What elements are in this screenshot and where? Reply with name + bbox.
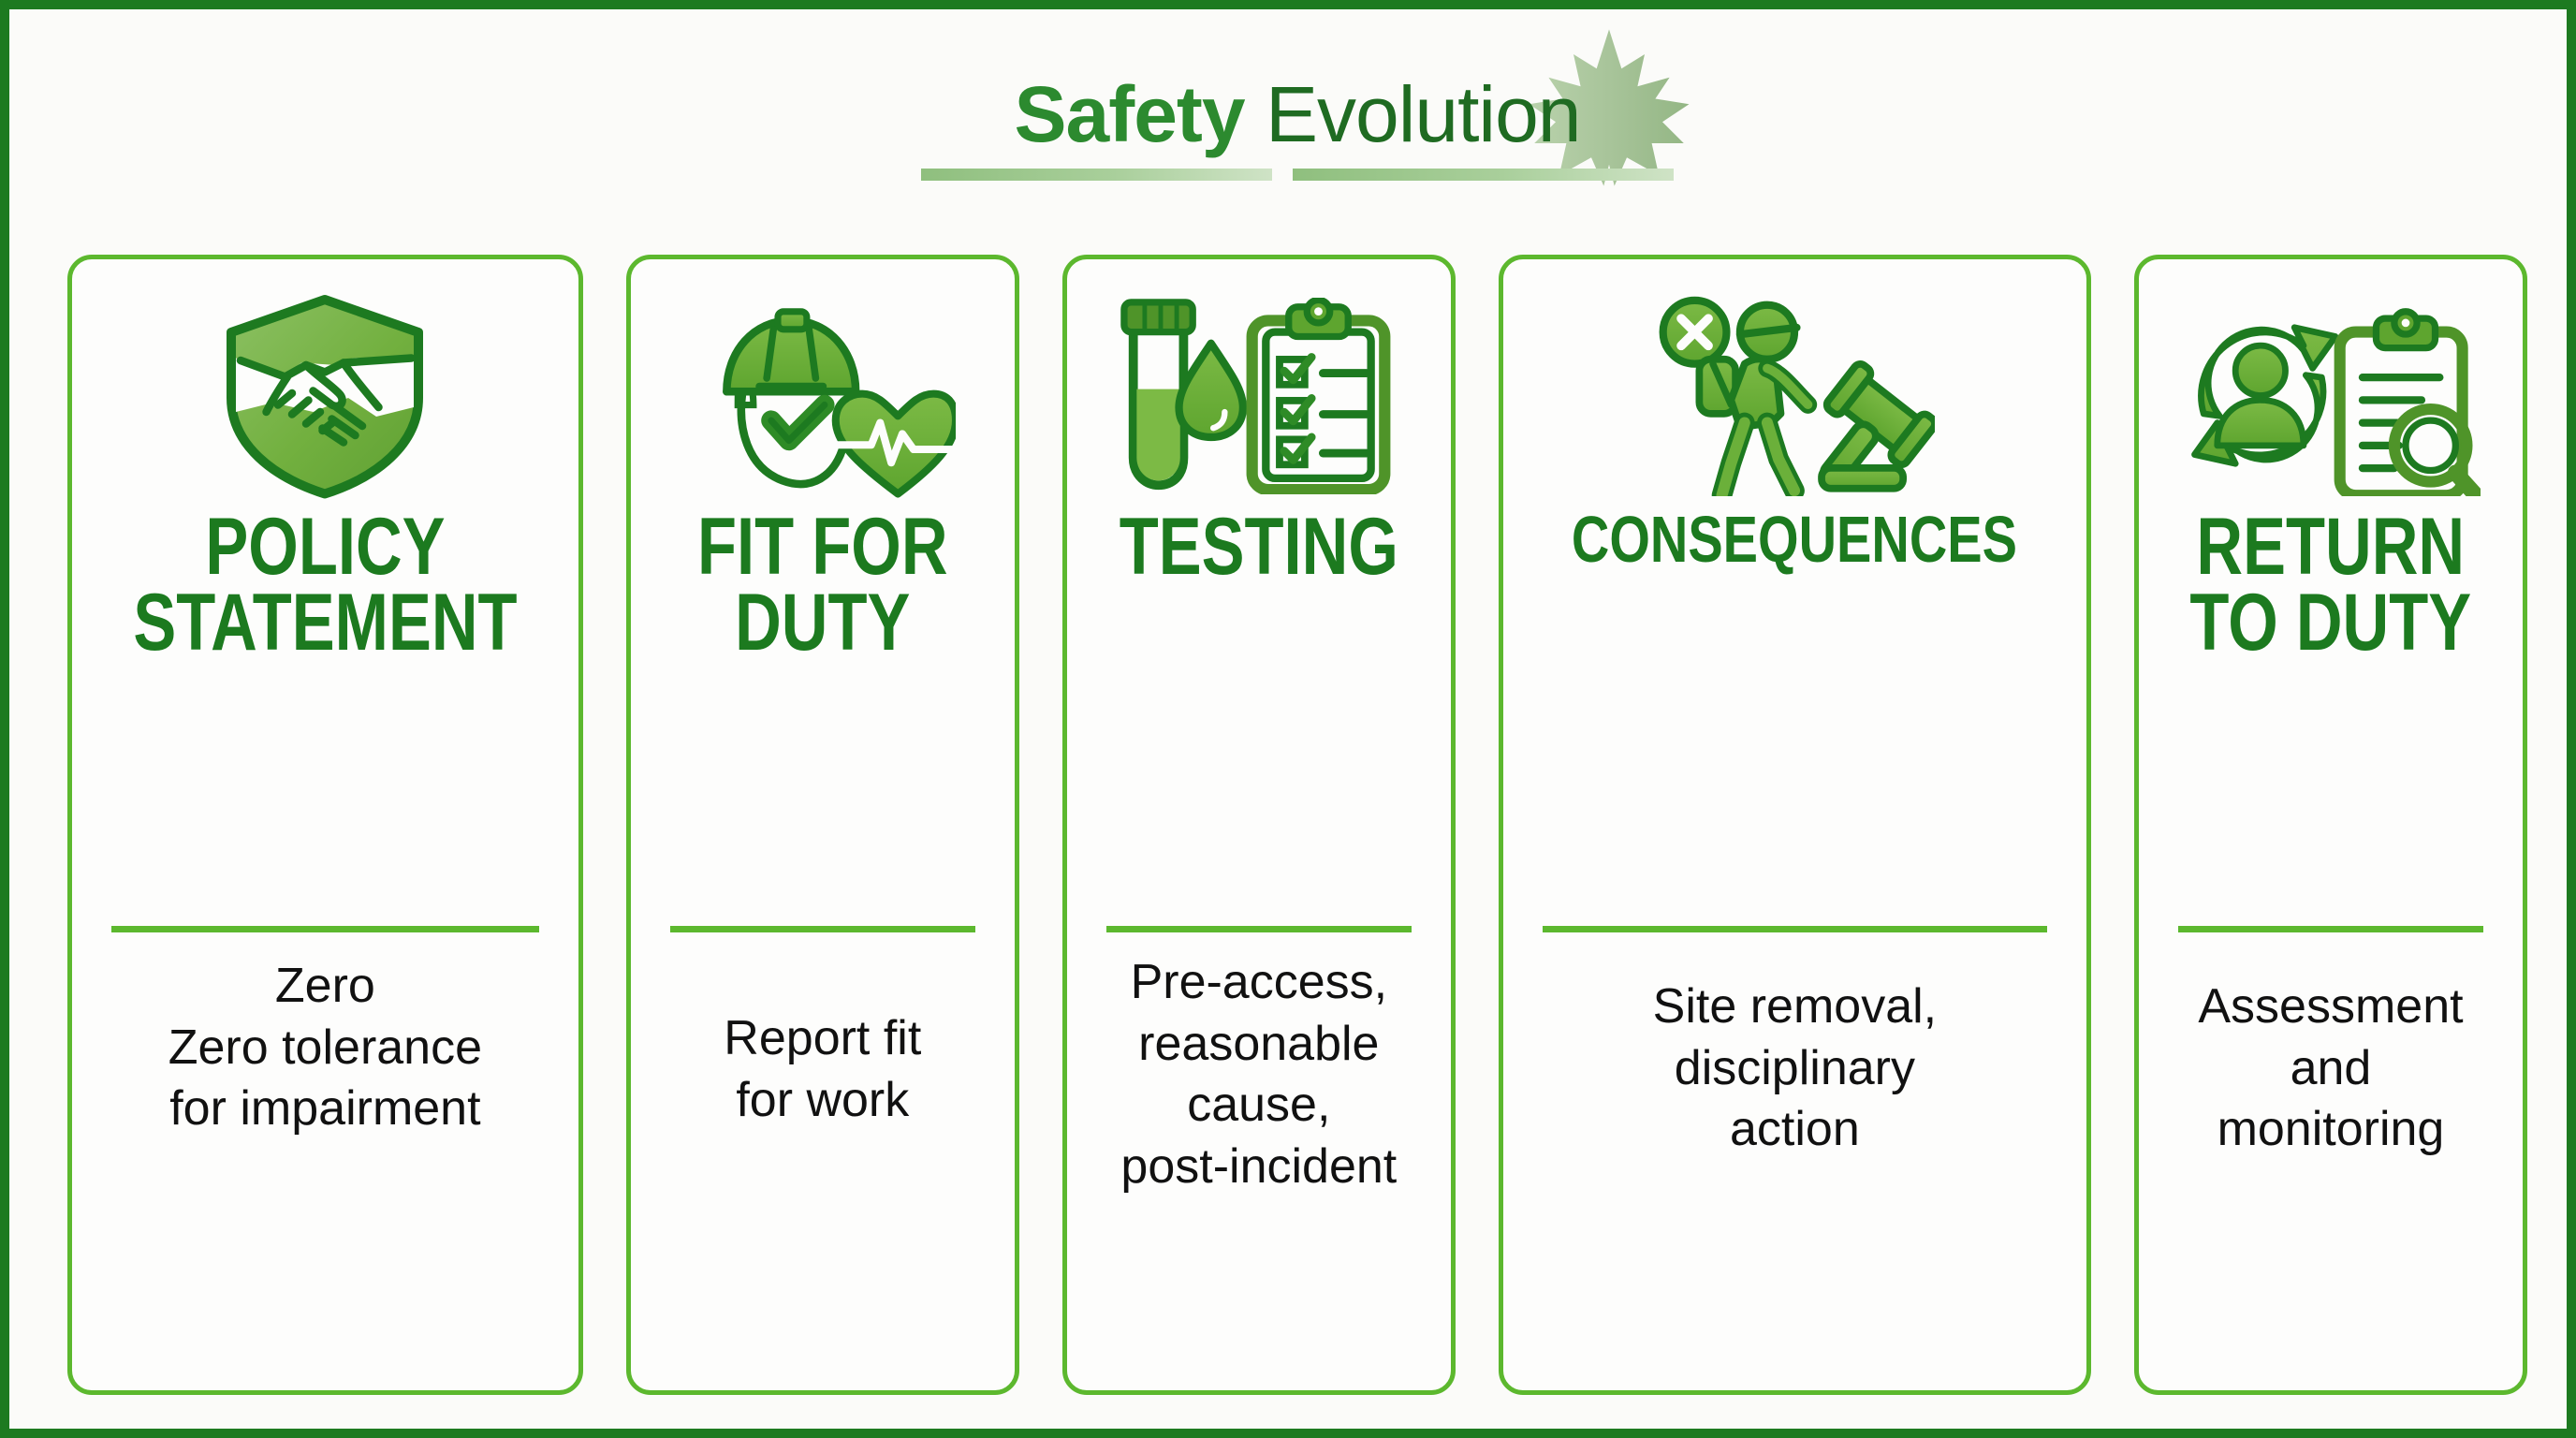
shield-handshake-icon (85, 286, 565, 506)
brand-name-regular: Evolution (1245, 70, 1581, 158)
card-divider (670, 926, 975, 932)
underline-bar-left (921, 169, 1272, 181)
card-title: CONSEQUENCES (1516, 509, 2073, 571)
brand-name-bold: Safety (1014, 70, 1244, 158)
header: Safety Evolution (9, 26, 2576, 204)
card-policy-statement[interactable]: POLICY STATEMENT Zero Zero tolerance for… (67, 255, 583, 1395)
card-divider (111, 926, 539, 932)
return-to-duty-clipboard-icon (2152, 286, 2510, 506)
poster-frame: Safety Evolution (0, 0, 2576, 1438)
card-divider (1543, 926, 2047, 932)
card-divider (2178, 926, 2483, 932)
test-tube-clipboard-icon (1080, 286, 1438, 506)
hardhat-worker-heart-icon (644, 286, 1002, 506)
card-return-to-duty[interactable]: RETURN TO DUTY Assessment and monitoring (2134, 255, 2527, 1395)
card-title: TESTING (1080, 509, 1438, 585)
card-title: FIT FOR DUTY (644, 509, 1002, 661)
card-body: Assessment and monitoring (2161, 976, 2500, 1161)
card-testing[interactable]: TESTING Pre-access, reasonable cause, po… (1062, 255, 1456, 1395)
underline-bar-right (1293, 169, 1674, 181)
pillar-card-row: POLICY STATEMENT Zero Zero tolerance for… (67, 255, 2527, 1395)
card-divider (1106, 926, 1412, 932)
brand-logo: Safety Evolution (904, 26, 1690, 204)
card-body: Zero Zero tolerance for impairment (95, 956, 556, 1140)
card-title: RETURN TO DUTY (2152, 509, 2510, 661)
card-body: Report fit for work (653, 1008, 992, 1131)
wordmark: Safety Evolution (904, 75, 1690, 154)
card-body: Site removal, disciplinary action (1526, 976, 2064, 1161)
worker-removed-gavel-icon (1516, 286, 2073, 506)
card-consequences[interactable]: CONSEQUENCES Site removal, disciplinary … (1499, 255, 2091, 1395)
card-body: Pre-access, reasonable cause, post-incid… (1090, 952, 1428, 1197)
card-title: POLICY STATEMENT (85, 509, 565, 661)
wordmark-underline (921, 169, 1674, 183)
card-fit-for-duty[interactable]: FIT FOR DUTY Report fit for work (626, 255, 1019, 1395)
